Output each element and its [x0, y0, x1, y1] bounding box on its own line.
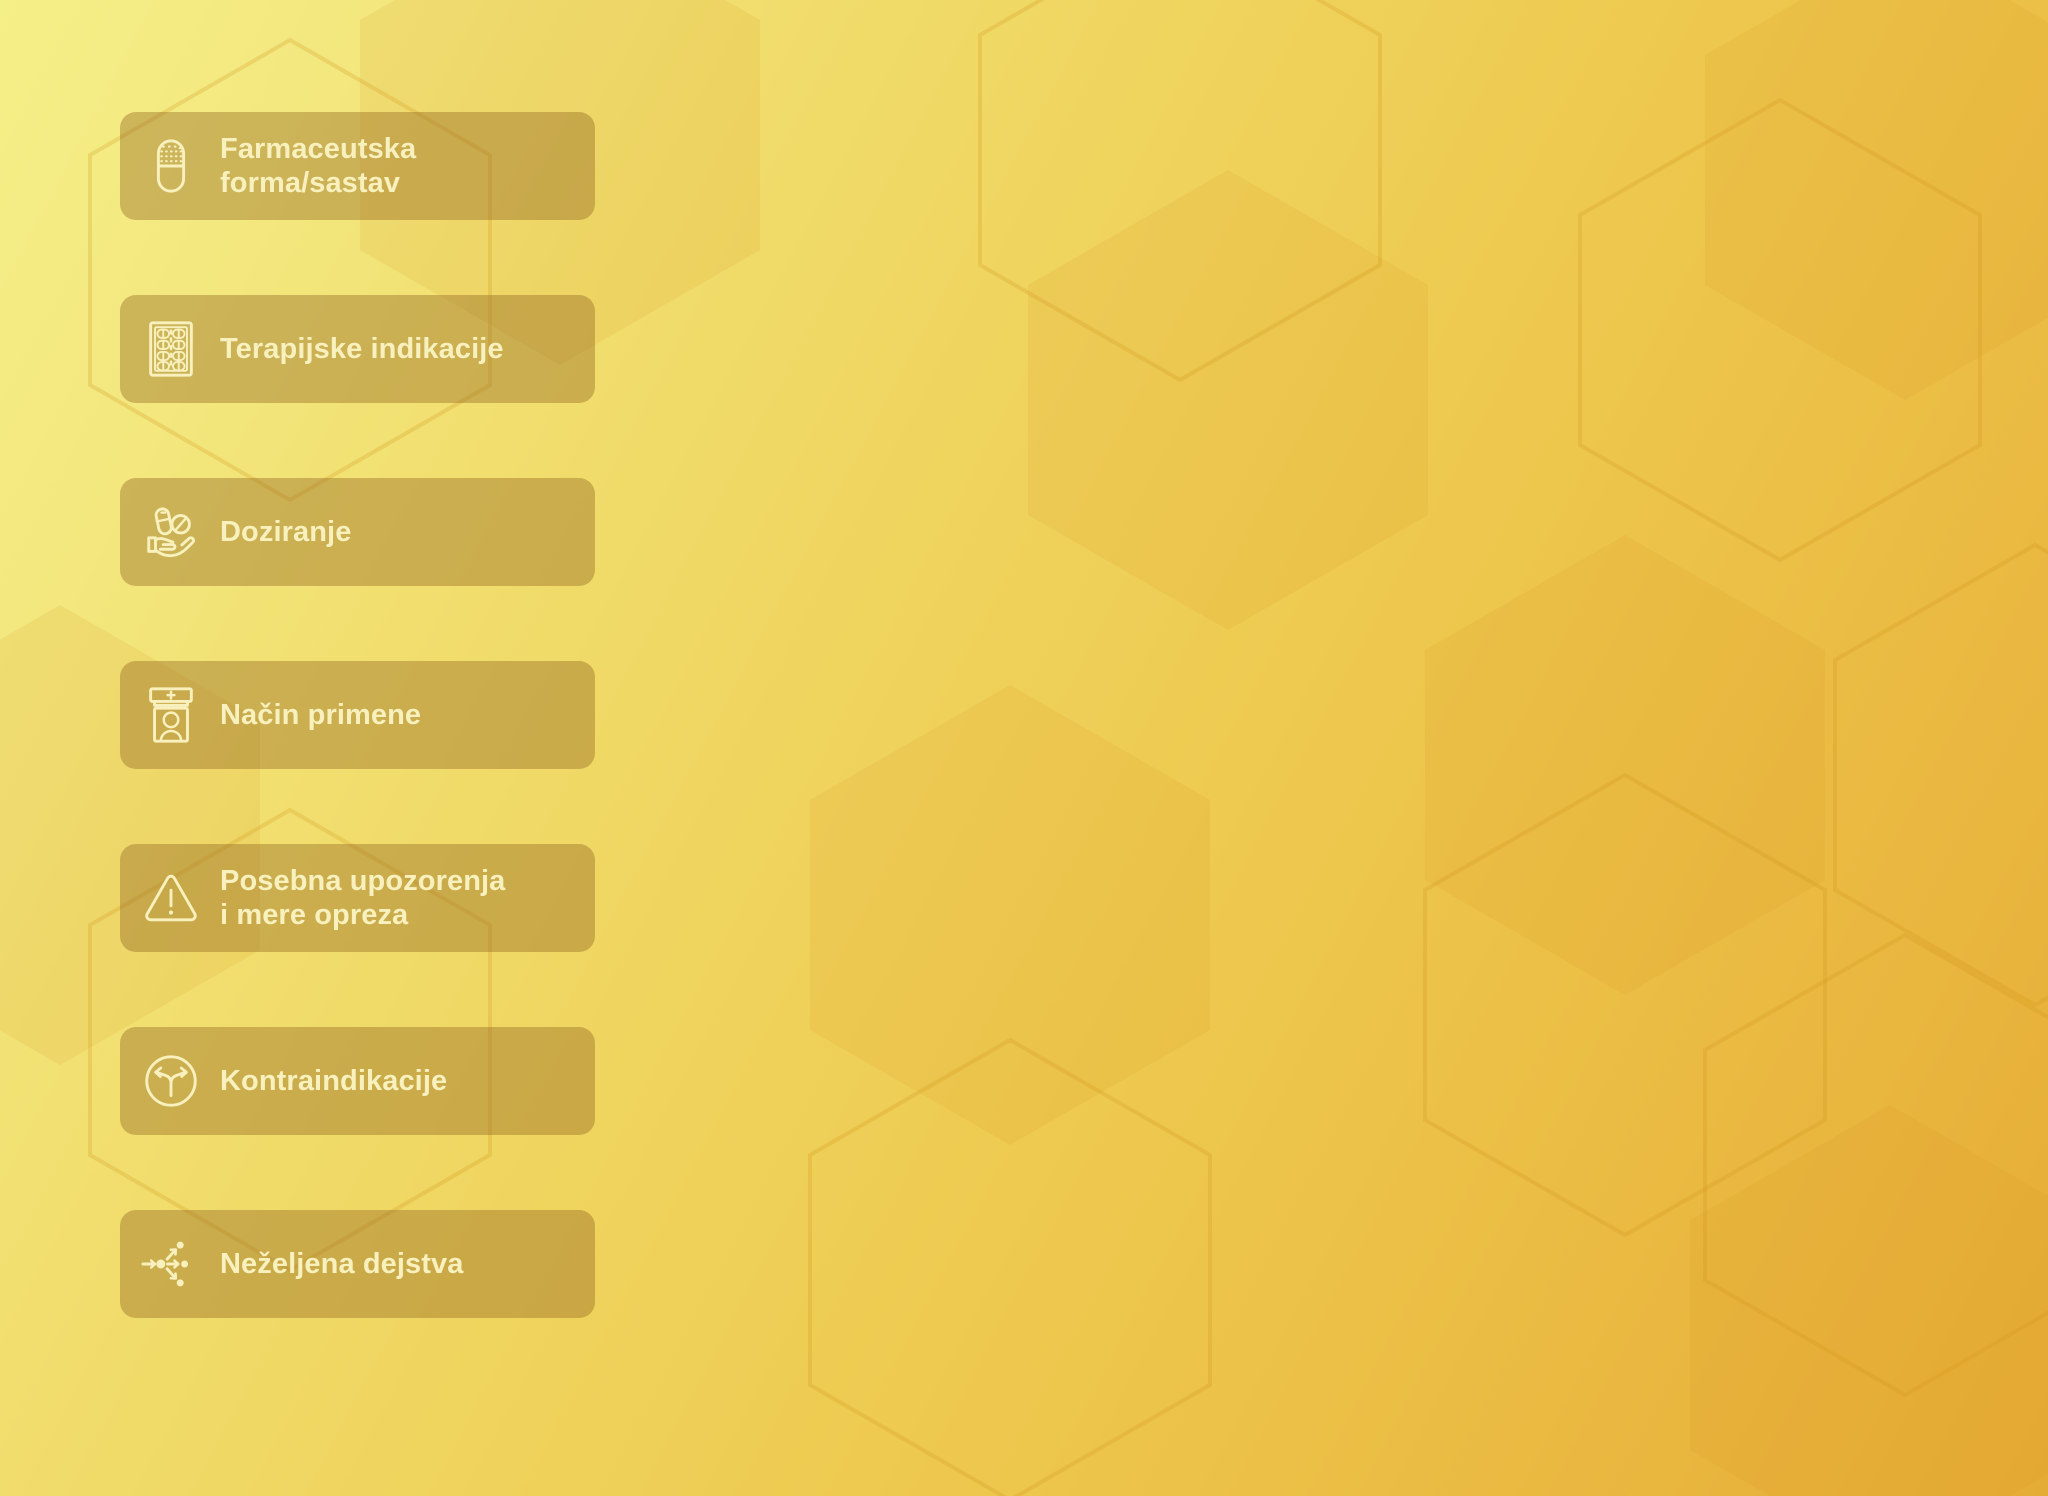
fork-arrows-circle-icon	[140, 1050, 202, 1112]
sidebar-item-kontraindikacije[interactable]: Kontraindikacije	[120, 1027, 595, 1135]
sidebar-item-label: Kontraindikacije	[220, 1064, 447, 1098]
sidebar-item-label: Posebna upozorenja i mere opreza	[220, 864, 505, 932]
sidebar-item-label: Način primene	[220, 698, 421, 732]
sidebar-item-label: Neželjena dejstva	[220, 1247, 464, 1281]
capsule-icon	[140, 135, 202, 197]
sidebar-item-farmaceutska-forma-sastav[interactable]: Farmaceutska forma/sastav	[120, 112, 595, 220]
sidebar-nav: Farmaceutska forma/sastav	[120, 112, 595, 1318]
sidebar-item-nezeljena-dejstva[interactable]: Neželjena dejstva	[120, 1210, 595, 1318]
hand-with-pills-icon	[140, 501, 202, 563]
blister-pack-icon	[140, 318, 202, 380]
pill-bottle-patient-icon	[140, 684, 202, 746]
warning-triangle-icon	[140, 867, 202, 929]
sidebar-item-label: Terapijske indikacije	[220, 332, 504, 366]
sidebar-item-label: Doziranje	[220, 515, 351, 549]
sidebar-item-label: Farmaceutska forma/sastav	[220, 132, 416, 200]
sidebar-item-nacin-primene[interactable]: Način primene	[120, 661, 595, 769]
sidebar-item-posebna-upozorenja-i-mere-opreza[interactable]: Posebna upozorenja i mere opreza	[120, 844, 595, 952]
dispersion-arrows-icon	[140, 1233, 202, 1295]
sidebar-item-doziranje[interactable]: Doziranje	[120, 478, 595, 586]
app-root: Farmaceutska forma/sastav	[0, 0, 2048, 1496]
sidebar-item-terapijske-indikacije[interactable]: Terapijske indikacije	[120, 295, 595, 403]
